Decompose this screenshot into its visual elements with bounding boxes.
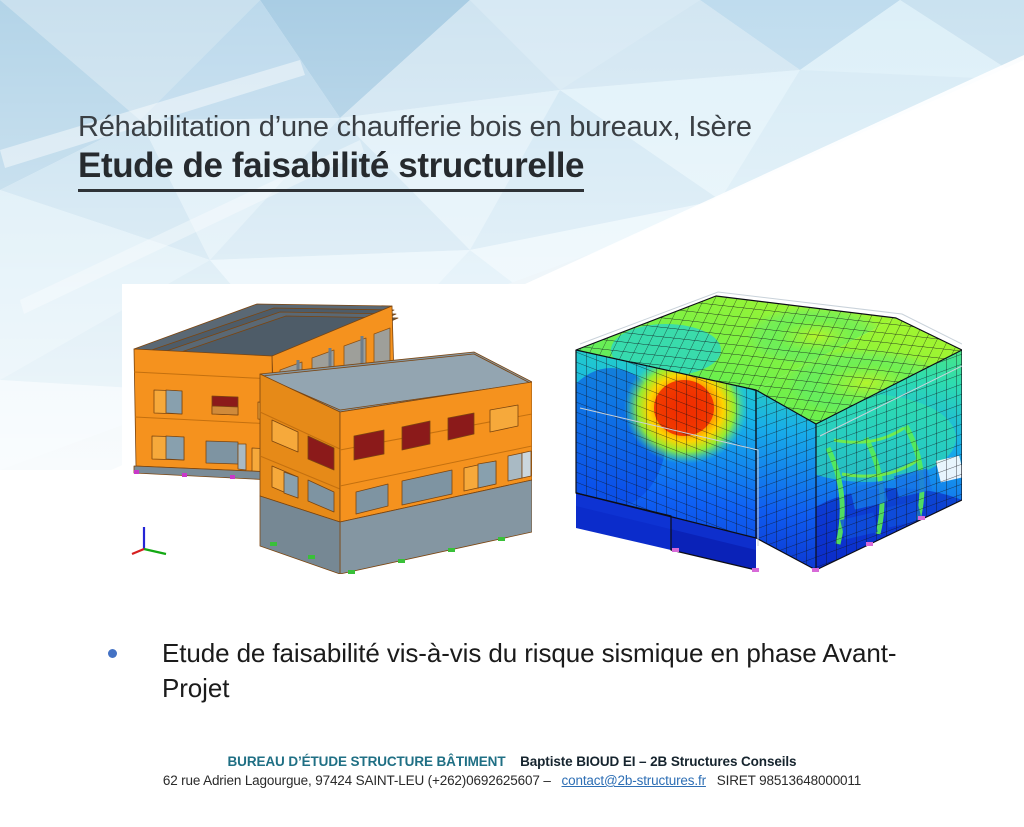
slide-title: Etude de faisabilité structurelle (78, 144, 584, 192)
footer-siret: SIRET 98513648000011 (717, 773, 861, 788)
figure-3d-building-model (122, 284, 532, 574)
building-3d-render (122, 284, 532, 574)
footer-company-name: Baptiste BIOUD EI – 2B Structures Consei… (520, 754, 796, 769)
footer-company-line: BUREAU D’ÉTUDE STRUCTURE BÂTIMENT Baptis… (0, 752, 1024, 771)
title-block: Réhabilitation d’une chaufferie bois en … (78, 110, 752, 192)
bullet-text: Etude de faisabilité vis-à-vis du risque… (162, 636, 922, 706)
figures-row (0, 280, 1024, 580)
footer-company-activity: BUREAU D’ÉTUDE STRUCTURE BÂTIMENT (228, 754, 506, 769)
slide-canvas: Réhabilitation d’une chaufferie bois en … (0, 0, 1024, 827)
footer-address: 62 rue Adrien Lagourgue, 97424 SAINT-LEU… (163, 773, 551, 788)
footer-email-link[interactable]: contact@2b-structures.fr (562, 773, 706, 788)
list-item: Etude de faisabilité vis-à-vis du risque… (108, 636, 928, 706)
fem-contour-render (566, 288, 962, 578)
bullet-list: Etude de faisabilité vis-à-vis du risque… (108, 636, 928, 706)
footer-contact-line: 62 rue Adrien Lagourgue, 97424 SAINT-LEU… (0, 771, 1024, 791)
figure-fem-contour (566, 288, 962, 578)
slide-subtitle: Réhabilitation d’une chaufferie bois en … (78, 110, 752, 144)
bullet-dot-icon (108, 649, 117, 658)
slide-footer: BUREAU D’ÉTUDE STRUCTURE BÂTIMENT Baptis… (0, 752, 1024, 791)
